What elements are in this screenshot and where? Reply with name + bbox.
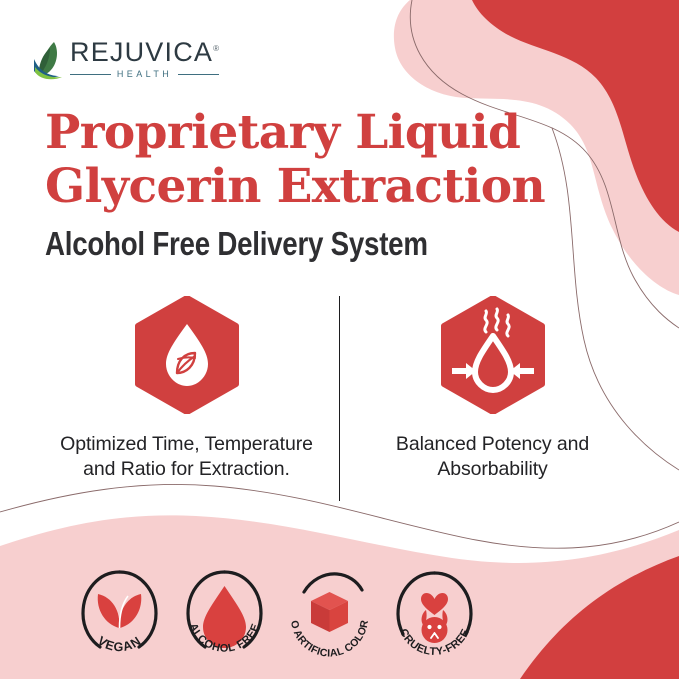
logo-rule-left xyxy=(70,74,111,75)
registered-trademark-icon: ® xyxy=(213,44,219,53)
rabbit-heart-icon xyxy=(421,593,448,643)
badge-cruelty-free: CRUELTY-FREE xyxy=(387,566,482,661)
logo-wordmark: REJUVICA® xyxy=(70,39,219,66)
logo-tagline-row: HEALTH xyxy=(70,69,219,79)
leaf-swoosh-icon xyxy=(33,38,65,80)
page-subtitle: Alcohol Free Delivery System xyxy=(45,225,428,263)
droplet-leaf-hexagon-icon xyxy=(132,296,242,414)
red-blob-bottom xyxy=(520,556,679,679)
feature-item-potency: Balanced Potency and Absorbability xyxy=(351,296,634,482)
feature-caption-potency: Balanced Potency and Absorbability xyxy=(351,432,634,482)
logo-tagline: HEALTH xyxy=(111,69,178,79)
feature-section: Optimized Time, Temperature and Ratio fo… xyxy=(45,296,635,501)
droplet-heat-arrows-hexagon-icon xyxy=(438,296,548,414)
logo-rule-right xyxy=(178,74,219,75)
cube-icon xyxy=(311,592,348,632)
headline-line-2: Glycerin Extraction xyxy=(45,160,590,214)
headline-line-1: Proprietary Liquid xyxy=(45,106,590,160)
infographic-canvas: REJUVICA® HEALTH Proprietary Liquid Glyc… xyxy=(0,0,679,679)
certification-badges: VEGAN ALCOHOL FREE NO ARTIFICIAL COLORS xyxy=(72,566,482,661)
page-title: Proprietary Liquid Glycerin Extraction xyxy=(45,106,590,214)
brand-logo: REJUVICA® HEALTH xyxy=(33,33,263,85)
feature-divider xyxy=(339,296,340,501)
svg-text:VEGAN: VEGAN xyxy=(95,634,144,655)
logo-wordmark-text: REJUVICA xyxy=(70,37,213,67)
feature-item-extraction: Optimized Time, Temperature and Ratio fo… xyxy=(45,296,328,482)
badge-no-artificial-colors: NO ARTIFICIAL COLORS xyxy=(282,566,377,661)
feature-caption-extraction: Optimized Time, Temperature and Ratio fo… xyxy=(45,432,328,482)
badge-vegan: VEGAN xyxy=(72,566,167,661)
badge-alcohol-free: ALCOHOL FREE xyxy=(177,566,272,661)
